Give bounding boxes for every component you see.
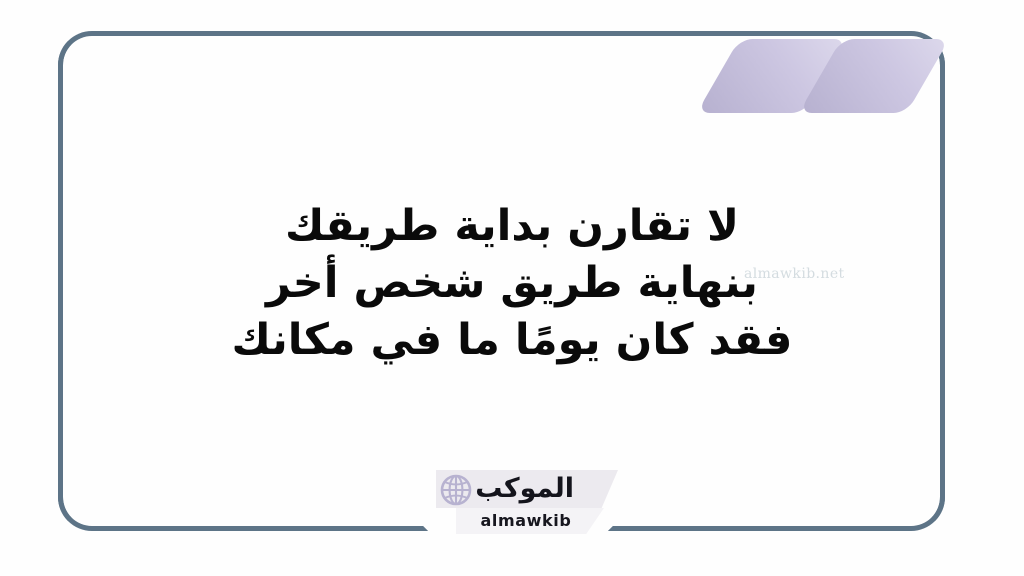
quote-line-3: فقد كان يومًا ما في مكانك [0,312,1024,369]
quote-card: لا تقارن بداية طريقك بنهاية طريق شخص أخر… [0,0,1024,576]
site-watermark: almawkib.net [744,266,845,282]
logo-arabic-name: الموكب [454,471,574,506]
quote-text: لا تقارن بداية طريقك بنهاية طريق شخص أخر… [0,198,1024,369]
brand-logo: الموكب almawkib [418,466,618,538]
quote-line-1: لا تقارن بداية طريقك [0,198,1024,255]
quote-line-2: بنهاية طريق شخص أخر [0,255,1024,312]
logo-latin-name: almawkib [466,510,586,532]
